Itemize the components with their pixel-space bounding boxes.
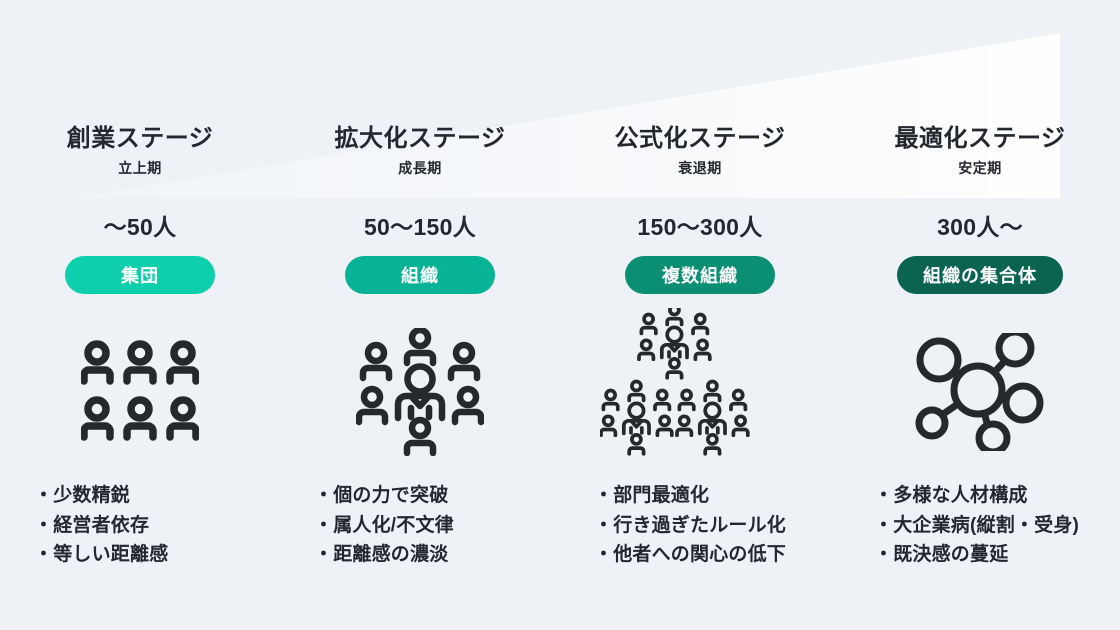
stage-bullet-list-2: 個の力で突破 属人化/不文律 距離感の濃淡: [280, 481, 560, 569]
people-grid-six-icon: [81, 304, 199, 479]
stage-bullet-list-3: 部門最適化 行き過ぎたルール化 他者への関心の低下: [560, 481, 840, 569]
stage-subtitle: 成長期: [334, 158, 505, 178]
list-item: 等しい距離感: [34, 540, 280, 569]
list-item: 他者への関心の低下: [594, 540, 840, 569]
stage-column-1: 創業ステージ 立上期 〜50人 集団 少数精鋭 経営者依存 等しい距離感: [0, 0, 280, 630]
stage-headcount: 50〜150人: [364, 208, 476, 242]
list-item: 行き過ぎたルール化: [594, 511, 840, 540]
network-hub-icon: [915, 304, 1045, 479]
stage-header-3: 公式化ステージ 衰退期: [614, 125, 785, 178]
stage-pill-badge: 集団: [65, 256, 215, 294]
stage-headcount: 150〜300人: [637, 208, 762, 242]
stage-title: 創業ステージ: [67, 125, 214, 153]
stage-title: 拡大化ステージ: [334, 125, 505, 153]
stage-grid: 創業ステージ 立上期 〜50人 集団 少数精鋭 経営者依存 等しい距離感: [0, 0, 1120, 630]
list-item: 部門最適化: [594, 481, 840, 510]
stage-column-2: 拡大化ステージ 成長期 50〜150人 組織: [280, 0, 560, 630]
list-item: 多様な人材構成: [874, 481, 1120, 510]
stage-column-3: 公式化ステージ 衰退期 150〜300人 複数組織: [560, 0, 840, 630]
stage-subtitle: 安定期: [894, 158, 1065, 178]
stage-column-4: 最適化ステージ 安定期 300人〜 組織の集合体: [840, 0, 1120, 630]
list-item: 大企業病(縦割・受身): [874, 511, 1120, 540]
list-item: 個の力で突破: [314, 481, 560, 510]
people-cluster-group-icon: [356, 304, 484, 479]
stage-subtitle: 衰退期: [614, 158, 785, 178]
list-item: 少数精鋭: [34, 481, 280, 510]
stage-header-4: 最適化ステージ 安定期: [894, 125, 1065, 178]
stage-pill-badge: 組織の集合体: [897, 256, 1063, 294]
stage-header-2: 拡大化ステージ 成長期: [334, 125, 505, 178]
list-item: 既決感の蔓延: [874, 540, 1120, 569]
stage-title: 最適化ステージ: [894, 125, 1065, 153]
stage-bullet-list-1: 少数精鋭 経営者依存 等しい距離感: [0, 481, 280, 569]
multi-group-cluster-icon: [600, 304, 800, 479]
stage-headcount: 300人〜: [937, 208, 1023, 242]
list-item: 距離感の濃淡: [314, 540, 560, 569]
stage-subtitle: 立上期: [67, 158, 214, 178]
stage-headcount: 〜50人: [104, 208, 177, 242]
stage-title: 公式化ステージ: [614, 125, 785, 153]
stage-pill-badge: 複数組織: [625, 256, 775, 294]
list-item: 経営者依存: [34, 511, 280, 540]
stage-bullet-list-4: 多様な人材構成 大企業病(縦割・受身) 既決感の蔓延: [840, 481, 1120, 569]
list-item: 属人化/不文律: [314, 511, 560, 540]
stage-header-1: 創業ステージ 立上期: [67, 125, 214, 178]
stage-pill-badge: 組織: [345, 256, 495, 294]
